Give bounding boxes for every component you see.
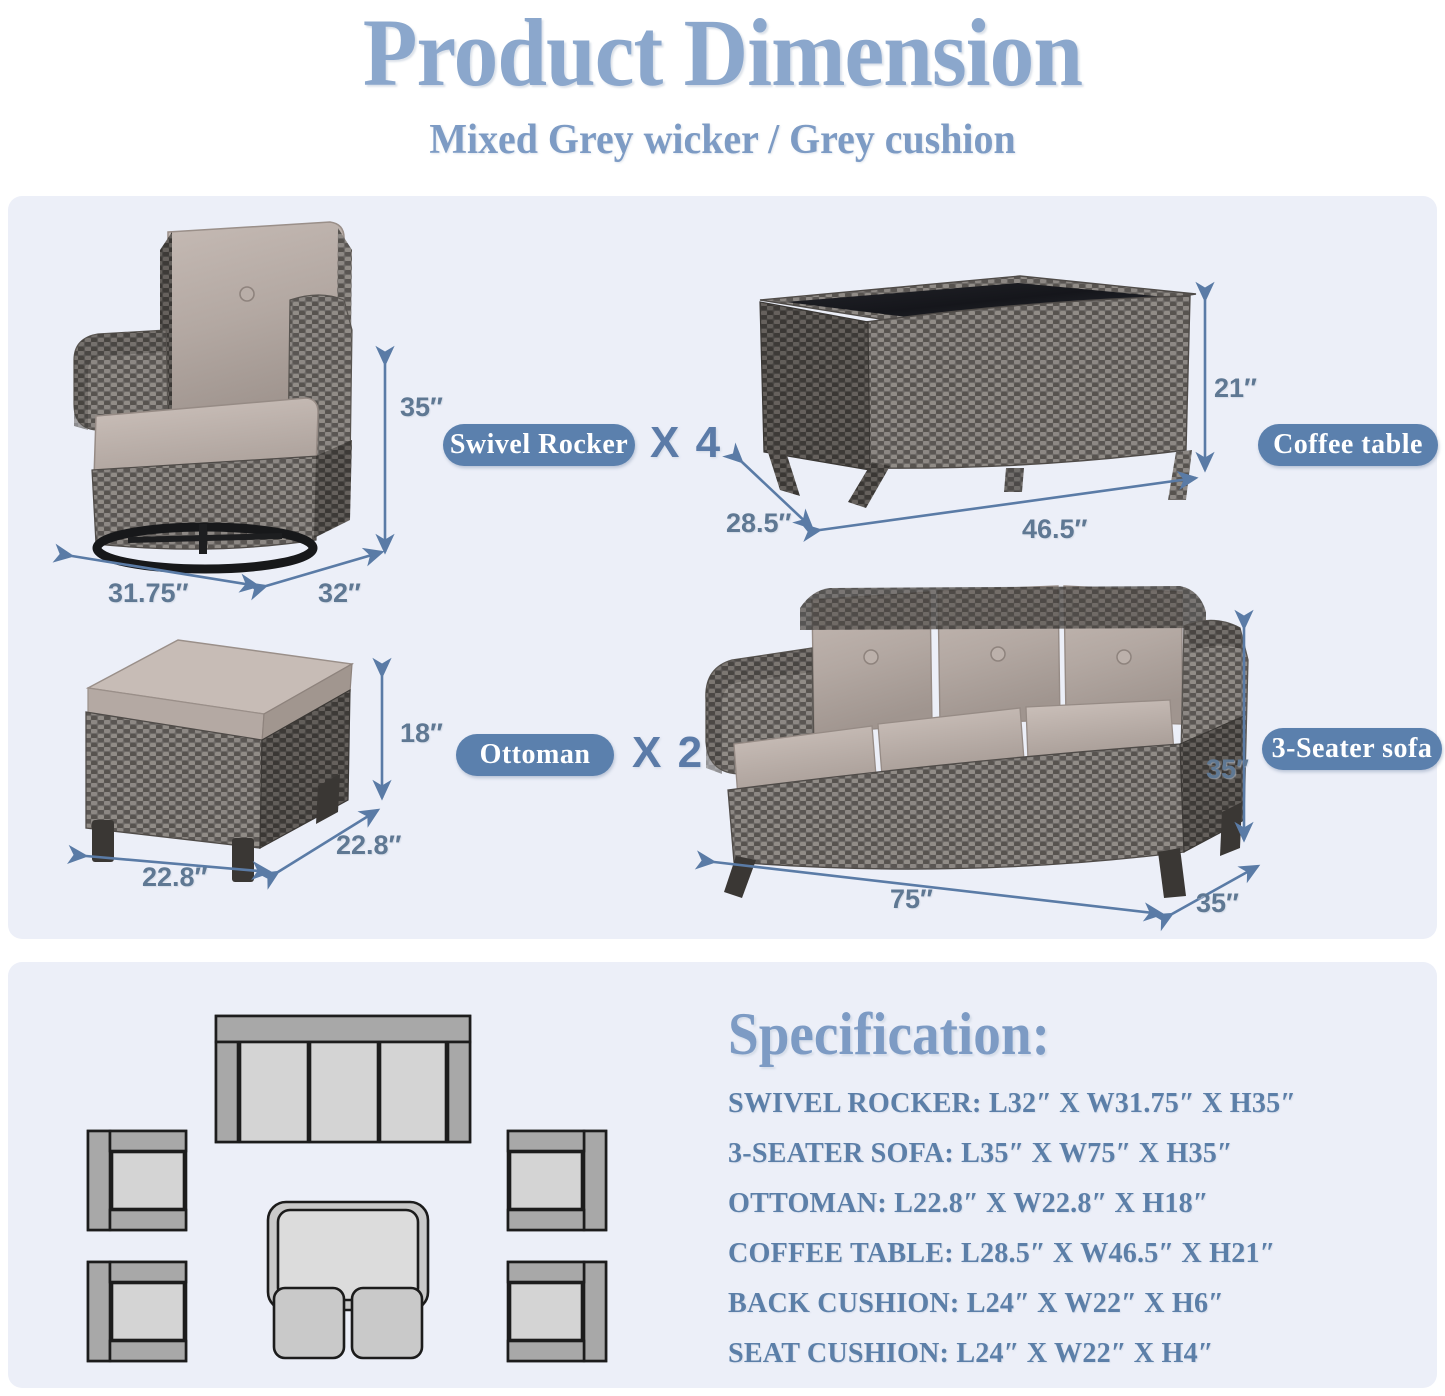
badge-three-seater-sofa[interactable]: 3-Seater sofa (1262, 728, 1442, 770)
page-header: Product Dimension Mixed Grey wicker / Gr… (0, 0, 1445, 164)
spec-line-ottoman: OTTOMAN: L22.8″ X W22.8″ X H18″ (728, 1178, 1407, 1228)
dim-coffee-table-depth: 28.5″ (726, 508, 791, 539)
quantity-swivel-rocker: X 4 (650, 418, 722, 468)
spec-line-three-seater-sofa: 3-SEATER SOFA: L35″ X W75″ X H35″ (728, 1128, 1407, 1178)
dim-sofa-depth: 35″ (1196, 888, 1239, 919)
specification-heading: Specification: (728, 1000, 1050, 1069)
badge-ottoman[interactable]: Ottoman (456, 734, 614, 776)
page-title: Product Dimension (51, 4, 1395, 102)
dim-ottoman-height: 18″ (400, 718, 443, 749)
dim-swivel-rocker-depth: 32″ (318, 578, 361, 609)
spec-line-coffee-table: COFFEE TABLE: L28.5″ X W46.5″ X H21″ (728, 1228, 1407, 1278)
dim-swivel-rocker-width: 31.75″ (108, 578, 189, 609)
badge-coffee-table[interactable]: Coffee table (1258, 424, 1438, 466)
dimensions-panel (8, 196, 1437, 939)
badge-swivel-rocker[interactable]: Swivel Rocker (443, 424, 635, 466)
dim-ottoman-width: 22.8″ (142, 862, 207, 893)
spec-line-swivel-rocker: SWIVEL ROCKER: L32″ X W31.75″ X H35″ (728, 1078, 1407, 1128)
page-subtitle: Mixed Grey wicker / Grey cushion (36, 116, 1409, 164)
dim-ottoman-depth: 22.8″ (336, 830, 401, 861)
dim-sofa-height: 35″ (1206, 754, 1249, 785)
dim-sofa-width: 75″ (890, 884, 933, 915)
spec-line-back-cushion: BACK CUSHION: L24″ X W22″ X H6″ (728, 1278, 1407, 1328)
specification-list: SWIVEL ROCKER: L32″ X W31.75″ X H35″ 3-S… (728, 1078, 1428, 1378)
quantity-ottoman: X 2 (632, 728, 704, 778)
dim-swivel-rocker-height: 35″ (400, 392, 443, 423)
spec-line-seat-cushion: SEAT CUSHION: L24″ X W22″ X H4″ (728, 1328, 1407, 1378)
dim-coffee-table-height: 21″ (1214, 373, 1257, 404)
dim-coffee-table-width: 46.5″ (1022, 514, 1087, 545)
